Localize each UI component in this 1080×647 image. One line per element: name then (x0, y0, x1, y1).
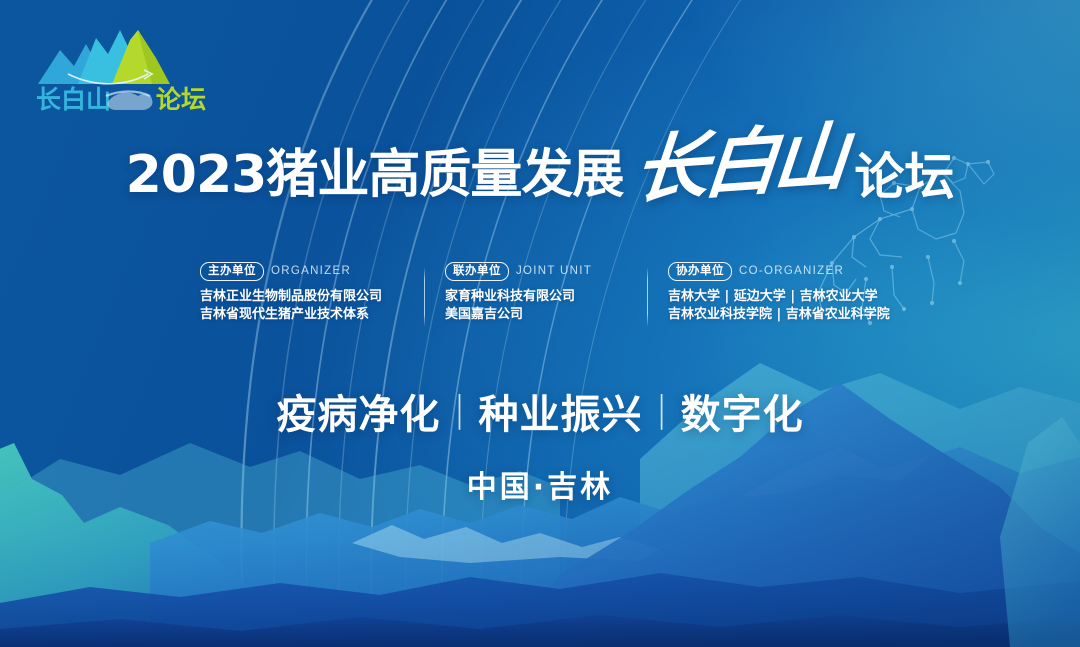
organizer-header: 主办单位 ORGANIZER (200, 262, 404, 281)
organizer-tag-english: CO-ORGANIZER (739, 265, 844, 277)
theme-keywords: 疫病净化 | 种业振兴 | 数字化 (0, 382, 1080, 440)
changbaishan-forum-logo: 长白山 论坛 (34, 22, 220, 114)
theme-keyword: 疫病净化 (276, 382, 440, 440)
page-title: 2023猪业高质量发展 长白山 论坛 (0, 128, 1080, 218)
organizer-entry: 家育种业科技有限公司 (445, 288, 627, 307)
organizer-header: 联办单位 JOINT UNIT (445, 262, 627, 281)
event-poster: 长白山 论坛 2023猪业高质量发展 长白山 论坛 主办单位 ORGANIZER… (0, 0, 1080, 647)
organizer-entry: 美国嘉吉公司 (445, 306, 627, 325)
theme-separator: | (440, 389, 478, 430)
organizer-entry: 吉林正业生物制品股份有限公司 (200, 288, 404, 307)
organizer-section: 主办单位 ORGANIZER 吉林正业生物制品股份有限公司 吉林省现代生猪产业技… (0, 262, 1080, 327)
organizer-entry: 吉林省现代生猪产业技术体系 (200, 306, 404, 325)
organizer-tag: 协办单位 (668, 262, 732, 281)
organizer-tag-english: ORGANIZER (271, 265, 351, 277)
event-location: 中国·吉林 (0, 462, 1080, 506)
theme-keyword: 数字化 (681, 382, 804, 440)
organizer-header: 协办单位 CO-ORGANIZER (668, 262, 880, 281)
svg-text:长白山: 长白山 (36, 85, 111, 114)
headline-main: 2023猪业高质量发展 (126, 149, 624, 201)
theme-separator: | (643, 389, 681, 430)
headline-tail: 论坛 (854, 152, 954, 202)
organizer-tag: 主办单位 (200, 262, 264, 281)
organizer-tag: 联办单位 (445, 262, 509, 281)
organizer-column-organizer: 主办单位 ORGANIZER 吉林正业生物制品股份有限公司 吉林省现代生猪产业技… (180, 262, 424, 325)
location-text: 中国·吉林 (467, 470, 613, 505)
organizer-entry: 吉林农业科技学院 | 吉林省农业科学院 (668, 306, 880, 325)
headline-brush-calligraphy: 长白山 (626, 126, 852, 202)
organizer-tag-english: JOINT UNIT (516, 265, 592, 277)
organizer-entry: 吉林大学 | 延边大学 | 吉林农业大学 (668, 288, 880, 307)
svg-text:论坛: 论坛 (156, 85, 206, 114)
organizer-column-joint-unit: 联办单位 JOINT UNIT 家育种业科技有限公司 美国嘉吉公司 (425, 262, 647, 325)
theme-keyword: 种业振兴 (479, 382, 643, 440)
organizer-column-co-organizer: 协办单位 CO-ORGANIZER 吉林大学 | 延边大学 | 吉林农业大学 吉… (648, 262, 900, 325)
